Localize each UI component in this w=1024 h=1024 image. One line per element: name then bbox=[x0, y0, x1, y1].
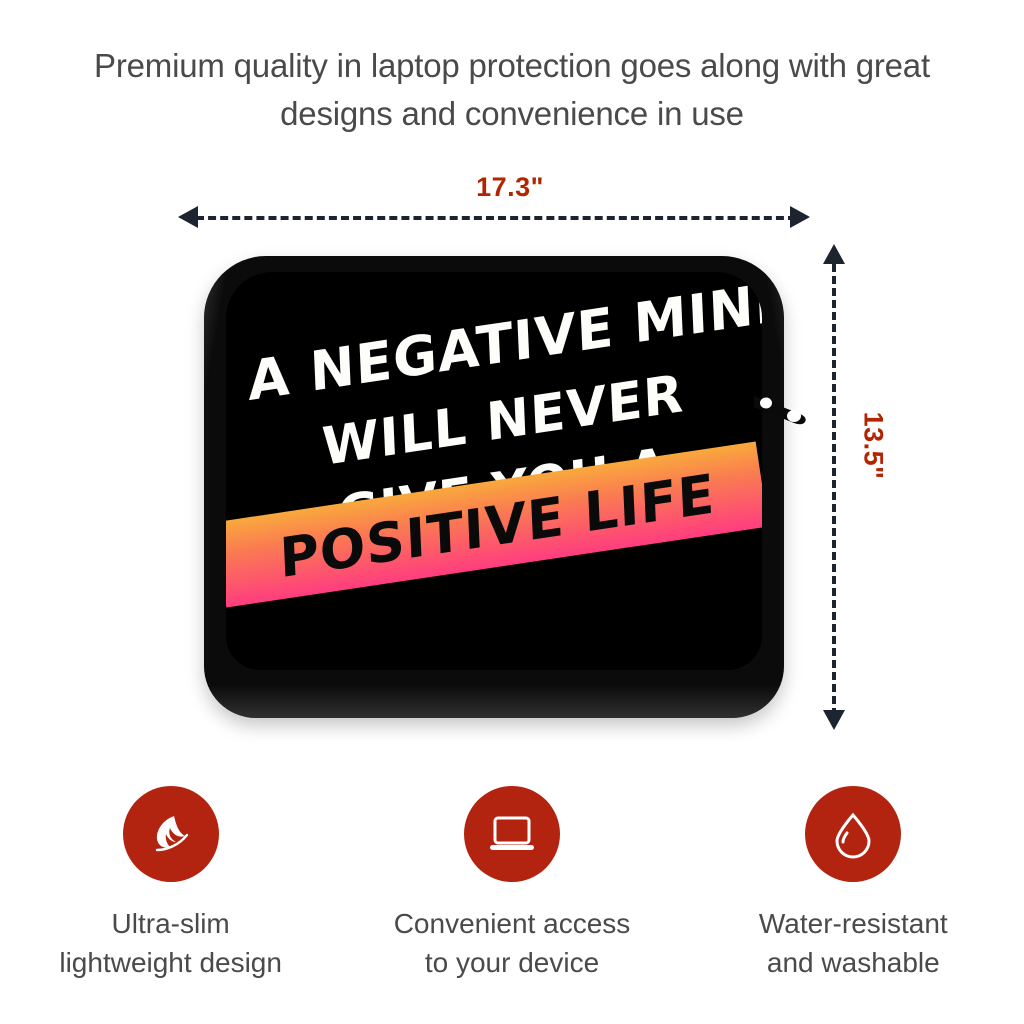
artwork-banner-text: POSITIVE LIFE bbox=[278, 462, 716, 590]
page-headline: Premium quality in laptop protection goe… bbox=[50, 42, 974, 138]
feather-icon bbox=[143, 806, 199, 862]
height-dimension-label: 13.5" bbox=[858, 381, 889, 511]
sleeve-print-face: A NEGATIVE MIND WILL NEVER GIVE YOU A PO… bbox=[226, 272, 762, 670]
sleeve-artwork: A NEGATIVE MIND WILL NEVER GIVE YOU A PO… bbox=[226, 272, 762, 670]
feature-icon-circle bbox=[805, 786, 901, 882]
feature-caption: Water-resistant and washable bbox=[759, 904, 948, 982]
feature-item-ultra-slim: Ultra-slim lightweight design bbox=[0, 786, 341, 982]
feature-item-convenient-access: Convenient access to your device bbox=[341, 786, 682, 982]
feature-icon-circle bbox=[123, 786, 219, 882]
feature-caption-line-2: and washable bbox=[759, 943, 948, 982]
sleeve-body: A NEGATIVE MIND WILL NEVER GIVE YOU A PO… bbox=[204, 256, 784, 718]
laptop-sleeve-product: A NEGATIVE MIND WILL NEVER GIVE YOU A PO… bbox=[196, 250, 792, 724]
feature-caption-line-1: Water-resistant bbox=[759, 904, 948, 943]
width-dimension-line bbox=[196, 216, 796, 220]
feature-list: Ultra-slim lightweight design Convenient… bbox=[0, 786, 1024, 982]
feature-item-water-resistant: Water-resistant and washable bbox=[683, 786, 1024, 982]
feature-caption-line-1: Ultra-slim bbox=[59, 904, 282, 943]
arrow-left-icon bbox=[178, 206, 198, 228]
feature-caption-line-2: to your device bbox=[394, 943, 631, 982]
feature-caption-line-2: lightweight design bbox=[59, 943, 282, 982]
feature-caption: Convenient access to your device bbox=[394, 904, 631, 982]
feature-caption: Ultra-slim lightweight design bbox=[59, 904, 282, 982]
water-drop-icon bbox=[825, 806, 881, 862]
feature-icon-circle bbox=[464, 786, 560, 882]
feature-caption-line-1: Convenient access bbox=[394, 904, 631, 943]
laptop-icon bbox=[484, 806, 540, 862]
arrow-down-icon bbox=[823, 710, 845, 730]
arrow-up-icon bbox=[823, 244, 845, 264]
arrow-right-icon bbox=[790, 206, 810, 228]
width-dimension-label: 17.3" bbox=[390, 172, 630, 203]
height-dimension-line bbox=[832, 264, 836, 716]
infographic-page: Premium quality in laptop protection goe… bbox=[0, 0, 1024, 1024]
zipper-pull-icon bbox=[752, 392, 810, 426]
